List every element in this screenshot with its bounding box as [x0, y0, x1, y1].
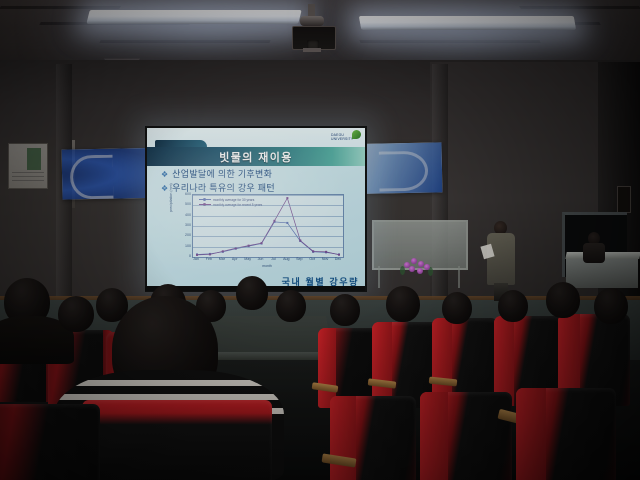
flower-arrangement [398, 258, 436, 278]
seat-cushion-edge [330, 396, 356, 480]
chart-data-point [273, 220, 275, 222]
auditorium-photo: 대구대 대구 일시 : 2009. 11. 20 대구대학교 환경공학과 발표회… [0, 0, 640, 480]
chart-gridline [193, 247, 343, 248]
ceiling-projector [292, 18, 334, 48]
flower-bloom [417, 268, 423, 274]
chart-x-tick: Jun [258, 257, 264, 261]
auditorium-seat[interactable] [516, 388, 616, 480]
chart-y-tick: 400 [185, 213, 191, 217]
chart-data-point [286, 222, 288, 224]
logo-leaf-icon [352, 130, 361, 139]
poster-graphic [27, 148, 41, 170]
person-at-podium [583, 232, 605, 262]
audience-head [58, 296, 94, 332]
precipitation-chart: precipitation (mm) 6005004003002001000 m… [171, 194, 347, 272]
chart-x-tick: Aug [283, 257, 289, 261]
chart-y-tick: 300 [185, 223, 191, 227]
chart-x-tick: Oct [309, 257, 315, 261]
chart-y-tick: 600 [185, 192, 191, 196]
chart-y-tick: 0 [189, 254, 191, 258]
chart-data-point [325, 251, 327, 253]
chart-data-point [261, 242, 263, 244]
presenter-coat [487, 233, 515, 285]
auditorium-seat[interactable] [420, 392, 512, 480]
whiteboard-leg [378, 266, 380, 288]
chart-x-tick: Apr [232, 257, 238, 261]
chart-y-tick: 200 [185, 233, 191, 237]
chart-x-tick: May [244, 257, 251, 261]
audience-head [276, 290, 306, 322]
chart-gridline [193, 226, 343, 227]
audience-head [442, 292, 472, 324]
diamond-bullet-icon: ❖ [161, 183, 168, 194]
light-glow [330, 0, 610, 66]
chart-y-ticks: 6005004003002001000 [175, 194, 191, 256]
chart-data-point [209, 253, 211, 255]
wall-poster [8, 143, 48, 189]
flower-bloom [409, 266, 415, 272]
projector-bracket [300, 16, 324, 26]
chart-data-point [196, 254, 198, 256]
chart-gridline [193, 236, 343, 237]
auditorium-seat[interactable] [82, 400, 272, 480]
chart-gridline [193, 205, 343, 206]
auditorium-seat[interactable] [0, 404, 100, 480]
flower-bloom [411, 258, 417, 264]
chart-x-tick: Dec [335, 257, 341, 261]
audience-head [236, 276, 268, 310]
wall-speaker [617, 186, 631, 213]
slide-title: 빗물의 재이용 [147, 149, 365, 165]
seat-back [82, 400, 272, 480]
chart-x-tick: Jan [193, 257, 199, 261]
auditorium-seat[interactable] [330, 396, 416, 480]
chart-x-tick: Sep [296, 257, 302, 261]
audience-head [386, 286, 420, 322]
slide-bullet: ❖ 산업발달에 의한 기후변화 [161, 169, 351, 180]
podium-person-body [583, 243, 605, 263]
chart-x-axis-label: month [262, 264, 271, 268]
projector-foot [303, 48, 321, 52]
projection-screen: DAEGU UNIVERSITY 빗물의 재이용 ❖ 산업발달에 의한 기후변화… [145, 126, 367, 292]
chart-y-tick: 500 [185, 202, 191, 206]
chart-y-axis-label: precipitation (mm) [169, 183, 173, 212]
whiteboard-leg [458, 266, 460, 288]
chart-x-tick: Jul [271, 257, 276, 261]
chart-y-tick: 100 [185, 244, 191, 248]
chart-data-point [222, 250, 224, 252]
chart-gridline [193, 216, 343, 217]
slide-surface: DAEGU UNIVERSITY 빗물의 재이용 ❖ 산업발달에 의한 기후변화… [147, 128, 365, 290]
chart-data-point [286, 197, 288, 199]
audience-head [330, 294, 360, 326]
chart-data-point [299, 239, 301, 241]
audience-head [594, 288, 628, 324]
seat-back [0, 404, 100, 480]
banner-logo-left [62, 148, 155, 200]
ceiling-light-left [86, 10, 301, 24]
standing-presenter [487, 221, 515, 299]
diamond-bullet-icon: ❖ [161, 169, 168, 180]
projector-body [292, 26, 336, 50]
audience-head [498, 290, 528, 322]
poster-text-lines [12, 172, 44, 184]
flower-bloom [424, 264, 430, 270]
audience-head [546, 282, 580, 318]
slide-bullet-text: 산업발달에 의한 기후변화 [172, 169, 272, 180]
ceiling-light-right [359, 16, 576, 30]
chart-gridline [193, 195, 343, 196]
seat-cushion-edge [516, 388, 546, 480]
chart-x-tick: Nov [322, 257, 328, 261]
chart-data-point [312, 250, 314, 252]
chart-x-tick: Feb [206, 257, 212, 261]
university-logo: DAEGU UNIVERSITY [331, 130, 361, 142]
chart-x-tick: Mar [219, 257, 225, 261]
chart-plot-area: monthly average for 30 years monthly ave… [192, 194, 344, 258]
chart-data-point [338, 254, 340, 256]
seat-cushion-edge [420, 392, 448, 480]
jacket-stripe [54, 380, 284, 386]
